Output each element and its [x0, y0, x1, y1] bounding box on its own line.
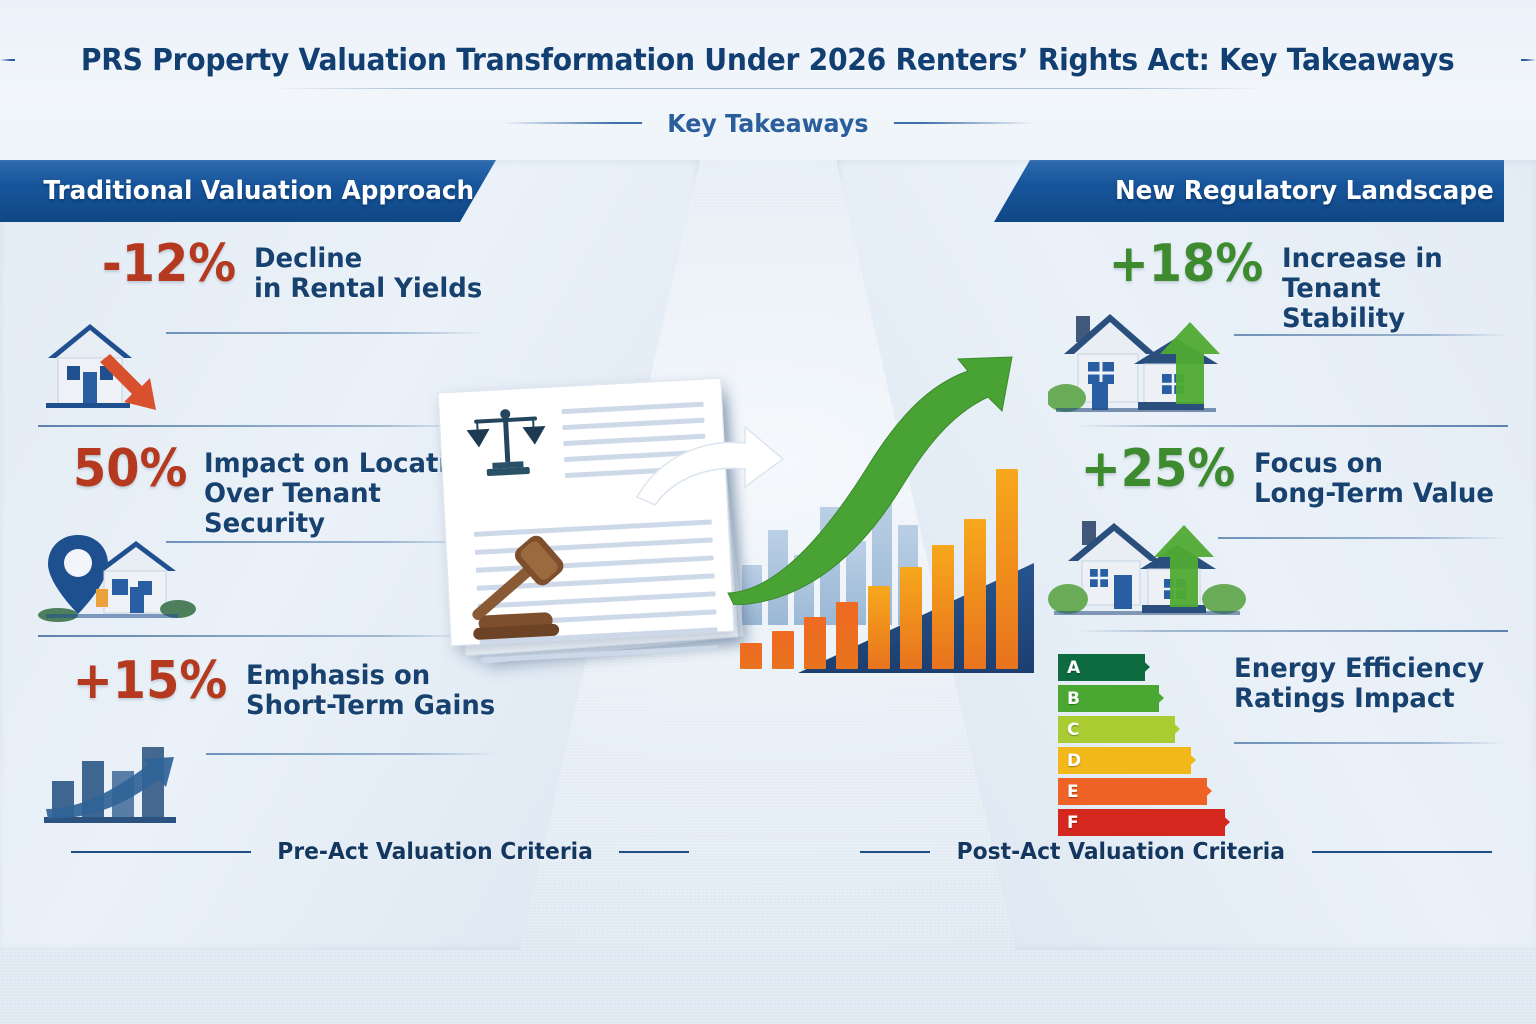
stat-label-line2: Long-Term Value [1254, 478, 1494, 509]
stat-label: Energy Efficiency Ratings Impact [1234, 650, 1484, 714]
stat-label-line2: Short-Term Gains [246, 690, 495, 721]
energy-grade-arrow-icon [1166, 716, 1180, 742]
center-illustration [430, 355, 1070, 685]
energy-grade-bar: B [1058, 685, 1159, 712]
stat-item: +15% Emphasis on Short-Term Gains [38, 657, 508, 857]
title-underline-divider [268, 88, 1268, 89]
right-panel-banner: New Regulatory Landscape [964, 160, 1536, 222]
stat-item: +25% Focus on Long-Term Value [1038, 445, 1508, 650]
stat-label-line2: in Rental Yields [254, 273, 482, 304]
title-row: PRS Property Valuation Transformation Un… [0, 30, 1536, 90]
bar-chart-up-arrow-icon [38, 735, 208, 827]
energy-grade-arrow-icon [1150, 685, 1164, 711]
right-stats-list: +18% Increase in Tenant Stability [1038, 240, 1508, 850]
right-panel-banner-label: New Regulatory Landscape [1115, 176, 1494, 206]
stat-item: +18% Increase in Tenant Stability [1038, 240, 1508, 445]
stat-value: +15% [73, 657, 228, 706]
energy-grade-row: D [1058, 747, 1225, 774]
title-rule-left-icon [0, 59, 15, 61]
footer-rule-left-icon [860, 851, 930, 853]
chart-bar [740, 643, 762, 669]
energy-rating-chart-icon: ABCDEF [1058, 654, 1225, 840]
chart-bar [836, 602, 858, 669]
footer-rule-right-icon [1312, 851, 1492, 853]
page-title: PRS Property Valuation Transformation Un… [81, 43, 1455, 78]
left-panel-banner: Traditional Valuation Approach [0, 160, 542, 222]
map-pin-house-icon [38, 527, 208, 627]
energy-grade-arrow-icon [1136, 654, 1150, 680]
energy-grade-bar: E [1058, 778, 1207, 805]
right-footer-band: Post-Act Valuation Criteria [846, 828, 1506, 876]
energy-grade-row: B [1058, 685, 1225, 712]
energy-grade-arrow-icon [1198, 778, 1212, 804]
footer-rule-right-icon [619, 851, 689, 853]
stat-label-line1: Emphasis on [246, 660, 430, 691]
infographic-canvas: PRS Property Valuation Transformation Un… [0, 0, 1536, 1024]
stat-value: 50% [73, 445, 188, 494]
left-panel-banner-label: Traditional Valuation Approach [43, 176, 474, 206]
stat-label: Decline in Rental Yields [254, 240, 482, 304]
stat-label-line2: Tenant Stability [1282, 273, 1405, 334]
energy-grade-bar: D [1058, 747, 1191, 774]
header: PRS Property Valuation Transformation Un… [0, 0, 1536, 160]
green-rising-arrow-icon [720, 355, 1020, 605]
house-with-up-arrow-icon [1048, 302, 1238, 422]
energy-grade-bar: C [1058, 716, 1175, 743]
footer-rule-left-icon [71, 851, 251, 853]
chart-bar [804, 617, 826, 669]
stat-value: -12% [102, 240, 236, 289]
left-footer-label: Pre-Act Valuation Criteria [277, 839, 593, 865]
energy-grade-bar: A [1058, 654, 1145, 681]
energy-grade-row: E [1058, 778, 1225, 805]
title-rule-right-icon [1521, 59, 1536, 61]
stat-label-line1: Increase in [1282, 243, 1443, 274]
stat-label-line1: Decline [254, 243, 362, 274]
left-footer-band: Pre-Act Valuation Criteria [30, 828, 730, 876]
energy-grade-arrow-icon [1182, 747, 1196, 773]
energy-grade-row: C [1058, 716, 1225, 743]
stat-label: Focus on Long-Term Value [1254, 445, 1494, 509]
stat-label-line2: Ratings Impact [1234, 683, 1455, 714]
house-with-down-arrow-icon [38, 310, 188, 420]
scales-of-justice-icon [461, 404, 551, 486]
house-trees-up-arrow-icon [1048, 513, 1248, 623]
subtitle-rule-left-icon [502, 122, 642, 124]
page-subtitle: Key Takeaways [667, 109, 868, 138]
stat-label-line1: Energy Efficiency [1234, 653, 1484, 684]
stat-value: +25% [1081, 445, 1236, 494]
energy-grade-row: A [1058, 654, 1225, 681]
chart-bar [772, 631, 794, 669]
stat-value: +18% [1109, 240, 1264, 289]
gavel-icon [444, 529, 580, 646]
stat-label: Increase in Tenant Stability [1282, 240, 1499, 335]
right-footer-label: Post-Act Valuation Criteria [957, 839, 1285, 865]
stat-label-line1: Focus on [1254, 448, 1383, 479]
stat-label-line2: Over Tenant Security [204, 478, 381, 539]
stat-item: Energy Efficiency Ratings Impact ABCDEF [1038, 650, 1508, 850]
subtitle-rule-right-icon [894, 122, 1034, 124]
subtitle-row: Key Takeaways [0, 100, 1536, 146]
